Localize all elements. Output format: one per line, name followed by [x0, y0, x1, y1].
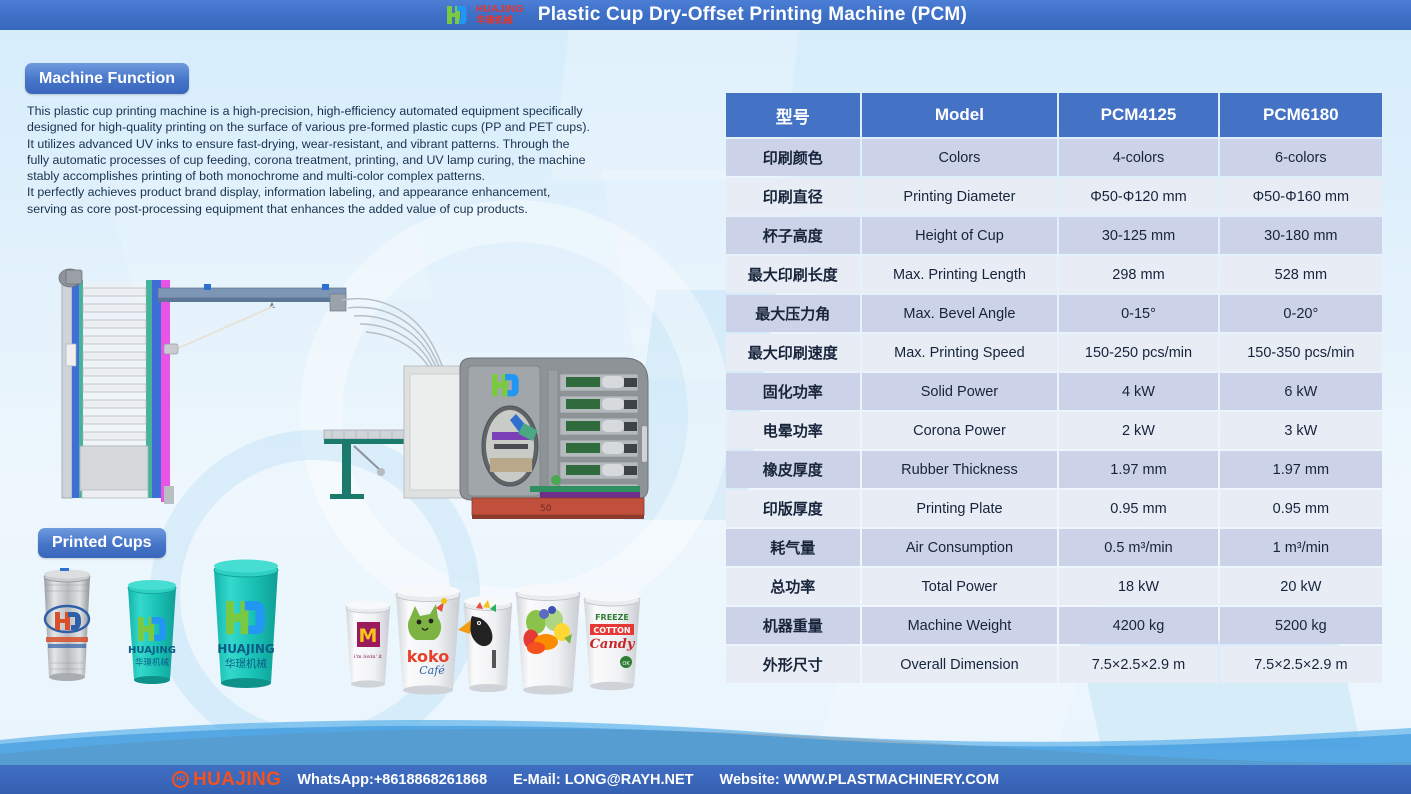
table-header-row: 型号 Model PCM4125 PCM6180: [726, 93, 1382, 137]
svg-text:HUAJING: HUAJING: [128, 645, 176, 656]
table-cell-v1: 150-250 pcs/min: [1059, 334, 1217, 371]
table-row: 印刷颜色Colors4-colors6-colors: [726, 139, 1382, 176]
mcdonalds-cup: M i'm lovin' it: [346, 601, 390, 688]
table-cell-v1: Φ50-Φ120 mm: [1059, 178, 1217, 215]
table-cell-en: Colors: [862, 139, 1058, 176]
svg-text:OK: OK: [622, 661, 630, 667]
table-cell-v2: 20 kW: [1220, 568, 1382, 605]
brand-name-cn: 华璟机械: [476, 16, 524, 25]
svg-text:HUAJING: HUAJING: [217, 642, 275, 656]
printing-unit: 50: [460, 358, 648, 519]
footer-contact-item-2[interactable]: Website: WWW.PLASTMACHINERY.COM: [720, 772, 1000, 788]
page-footer: HJ HUAJING WhatsApp:+8618868261868E-Mail…: [0, 765, 1411, 794]
table-cell-cn: 固化功率: [726, 373, 860, 410]
table-cell-v1: 1.97 mm: [1059, 451, 1217, 488]
table-cell-v2: 30-180 mm: [1220, 217, 1382, 254]
machine-function-badge: Machine Function: [25, 63, 189, 94]
page-header: HUAJING 华璟机械 Plastic Cup Dry-Offset Prin…: [0, 0, 1411, 30]
table-cell-v1: 0.5 m³/min: [1059, 529, 1217, 566]
table-cell-v1: 2 kW: [1059, 412, 1217, 449]
table-cell-v2: 1 m³/min: [1220, 529, 1382, 566]
desc-line-5: stably accomplishes printing of both mon…: [27, 168, 672, 184]
table-row: 耗气量Air Consumption0.5 m³/min1 m³/min: [726, 529, 1382, 566]
brand-name-en: HUAJING: [476, 5, 524, 15]
table-cell-cn: 最大印刷速度: [726, 334, 860, 371]
svg-text:50: 50: [540, 504, 552, 514]
desc-line-3: It utilizes advanced UV inks to ensure f…: [27, 136, 672, 152]
table-cell-en: Printing Plate: [862, 490, 1058, 527]
table-row: 最大印刷长度Max. Printing Length298 mm528 mm: [726, 256, 1382, 293]
table-cell-cn: 机器重量: [726, 607, 860, 644]
table-cell-v1: 30-125 mm: [1059, 217, 1217, 254]
footer-contact-list: WhatsApp:+8618868261868E-Mail: LONG@RAYH…: [297, 772, 1025, 788]
table-cell-cn: 橡皮厚度: [726, 451, 860, 488]
table-cell-en: Max. Printing Length: [862, 256, 1058, 293]
header-model-en: Model: [862, 93, 1058, 137]
table-cell-en: Printing Diameter: [862, 178, 1058, 215]
table-cell-v1: 0.95 mm: [1059, 490, 1217, 527]
machine-function-description: This plastic cup printing machine is a h…: [27, 103, 672, 217]
table-cell-v2: 528 mm: [1220, 256, 1382, 293]
table-row: 印刷直径Printing DiameterΦ50-Φ120 mmΦ50-Φ160…: [726, 178, 1382, 215]
machine-illustration: 50: [24, 258, 684, 523]
brand-logo-text: HUAJING 华璟机械: [476, 5, 524, 25]
desc-line-7: serving as core post-processing equipmen…: [27, 201, 672, 217]
table-row: 杯子高度Height of Cup30-125 mm30-180 mm: [726, 217, 1382, 254]
svg-text:Café: Café: [419, 664, 445, 677]
table-cell-v1: 4-colors: [1059, 139, 1217, 176]
table-cell-v2: 150-350 pcs/min: [1220, 334, 1382, 371]
hj-logo-icon: [444, 3, 468, 27]
table-cell-en: Corona Power: [862, 412, 1058, 449]
table-cell-v2: 1.97 mm: [1220, 451, 1382, 488]
fruit-cup: [516, 584, 580, 695]
cup-feeder-unit: [59, 269, 174, 504]
table-cell-en: Height of Cup: [862, 217, 1058, 254]
table-row: 最大印刷速度Max. Printing Speed150-250 pcs/min…: [726, 334, 1382, 371]
table-cell-v2: 3 kW: [1220, 412, 1382, 449]
table-row: 总功率Total Power18 kW20 kW: [726, 568, 1382, 605]
footer-contact-item-0[interactable]: WhatsApp:+8618868261868: [297, 772, 487, 788]
table-row: 机器重量Machine Weight4200 kg5200 kg: [726, 607, 1382, 644]
footer-brand-name: HUAJING: [193, 769, 281, 791]
table-cell-v2: 0.95 mm: [1220, 490, 1382, 527]
table-cell-en: Max. Printing Speed: [862, 334, 1058, 371]
svg-text:Candy: Candy: [590, 637, 636, 652]
table-cell-v2: 7.5×2.5×2.9 m: [1220, 646, 1382, 683]
teal-cup-large: HUAJING 华璟机械: [214, 560, 278, 689]
svg-text:华璟机械: 华璟机械: [225, 657, 267, 670]
teal-cup-small: HUAJING 华璟机械: [128, 580, 176, 684]
footer-hj-mark-icon: HJ: [172, 771, 189, 788]
header-pcm4125: PCM4125: [1059, 93, 1217, 137]
table-cell-en: Machine Weight: [862, 607, 1058, 644]
table-cell-v1: 0-15°: [1059, 295, 1217, 332]
table-cell-v2: Φ50-Φ160 mm: [1220, 178, 1382, 215]
table-cell-cn: 耗气量: [726, 529, 860, 566]
svg-text:COTTON: COTTON: [593, 626, 630, 635]
table-cell-v2: 0-20°: [1220, 295, 1382, 332]
koko-cafe-cup: koko Café: [396, 585, 460, 695]
table-cell-cn: 电晕功率: [726, 412, 860, 449]
footer-brand-logo: HJ HUAJING: [172, 769, 281, 791]
desc-line-4: fully automatic processes of cup feeding…: [27, 152, 672, 168]
table-cell-cn: 杯子高度: [726, 217, 860, 254]
desc-line-1: This plastic cup printing machine is a h…: [27, 103, 672, 119]
desc-line-6: It perfectly achieves product brand disp…: [27, 184, 672, 200]
product-datasheet-page: HUAJING 华璟机械 Plastic Cup Dry-Offset Prin…: [0, 0, 1411, 794]
svg-text:M: M: [359, 625, 378, 647]
table-cell-en: Air Consumption: [862, 529, 1058, 566]
table-cell-v1: 7.5×2.5×2.9 m: [1059, 646, 1217, 683]
desc-line-2: designed for high-quality printing on th…: [27, 119, 672, 135]
table-row: 固化功率Solid Power4 kW6 kW: [726, 373, 1382, 410]
specification-table: 型号 Model PCM4125 PCM6180 印刷颜色Colors4-col…: [724, 91, 1384, 685]
table-cell-v2: 6-colors: [1220, 139, 1382, 176]
footer-contact-item-1[interactable]: E-Mail: LONG@RAYH.NET: [513, 772, 693, 788]
table-cell-cn: 最大压力角: [726, 295, 860, 332]
table-row: 印版厚度Printing Plate0.95 mm0.95 mm: [726, 490, 1382, 527]
printed-cups-badge: Printed Cups: [38, 528, 166, 558]
table-cell-cn: 印版厚度: [726, 490, 860, 527]
table-cell-cn: 总功率: [726, 568, 860, 605]
svg-text:华璟机械: 华璟机械: [135, 657, 170, 668]
header-model-cn: 型号: [726, 93, 860, 137]
candy-cup: FREEZE COTTON Candy OK: [584, 591, 640, 691]
table-cell-cn: 印刷颜色: [726, 139, 860, 176]
overhead-rail: [158, 284, 346, 354]
table-cell-v1: 298 mm: [1059, 256, 1217, 293]
table-cell-en: Solid Power: [862, 373, 1058, 410]
toucan-cup: [458, 596, 512, 692]
table-cell-v2: 5200 kg: [1220, 607, 1382, 644]
table-cell-v2: 6 kW: [1220, 373, 1382, 410]
table-cell-en: Max. Bevel Angle: [862, 295, 1058, 332]
table-row: 橡皮厚度Rubber Thickness1.97 mm1.97 mm: [726, 451, 1382, 488]
table-cell-en: Overall Dimension: [862, 646, 1058, 683]
table-row: 电晕功率Corona Power2 kW3 kW: [726, 412, 1382, 449]
page-title: Plastic Cup Dry-Offset Printing Machine …: [538, 4, 967, 26]
svg-text:i'm lovin' it: i'm lovin' it: [354, 654, 382, 660]
table-cell-cn: 外形尺寸: [726, 646, 860, 683]
table-cell-cn: 印刷直径: [726, 178, 860, 215]
printed-cups-branded-group: HUAJING 华璟机械 HUAJING 华璟机械: [30, 555, 340, 705]
unit-hj-logo-icon: [492, 374, 519, 396]
table-cell-v1: 18 kW: [1059, 568, 1217, 605]
table-cell-v1: 4 kW: [1059, 373, 1217, 410]
svg-text:FREEZE: FREEZE: [595, 613, 629, 622]
table-cell-en: Rubber Thickness: [862, 451, 1058, 488]
header-pcm6180: PCM6180: [1220, 93, 1382, 137]
table-cell-cn: 最大印刷长度: [726, 256, 860, 293]
table-cell-en: Total Power: [862, 568, 1058, 605]
table-cell-v1: 4200 kg: [1059, 607, 1217, 644]
silver-cup: [44, 568, 90, 681]
table-row: 外形尺寸Overall Dimension7.5×2.5×2.9 m7.5×2.…: [726, 646, 1382, 683]
table-row: 最大压力角Max. Bevel Angle0-15°0-20°: [726, 295, 1382, 332]
